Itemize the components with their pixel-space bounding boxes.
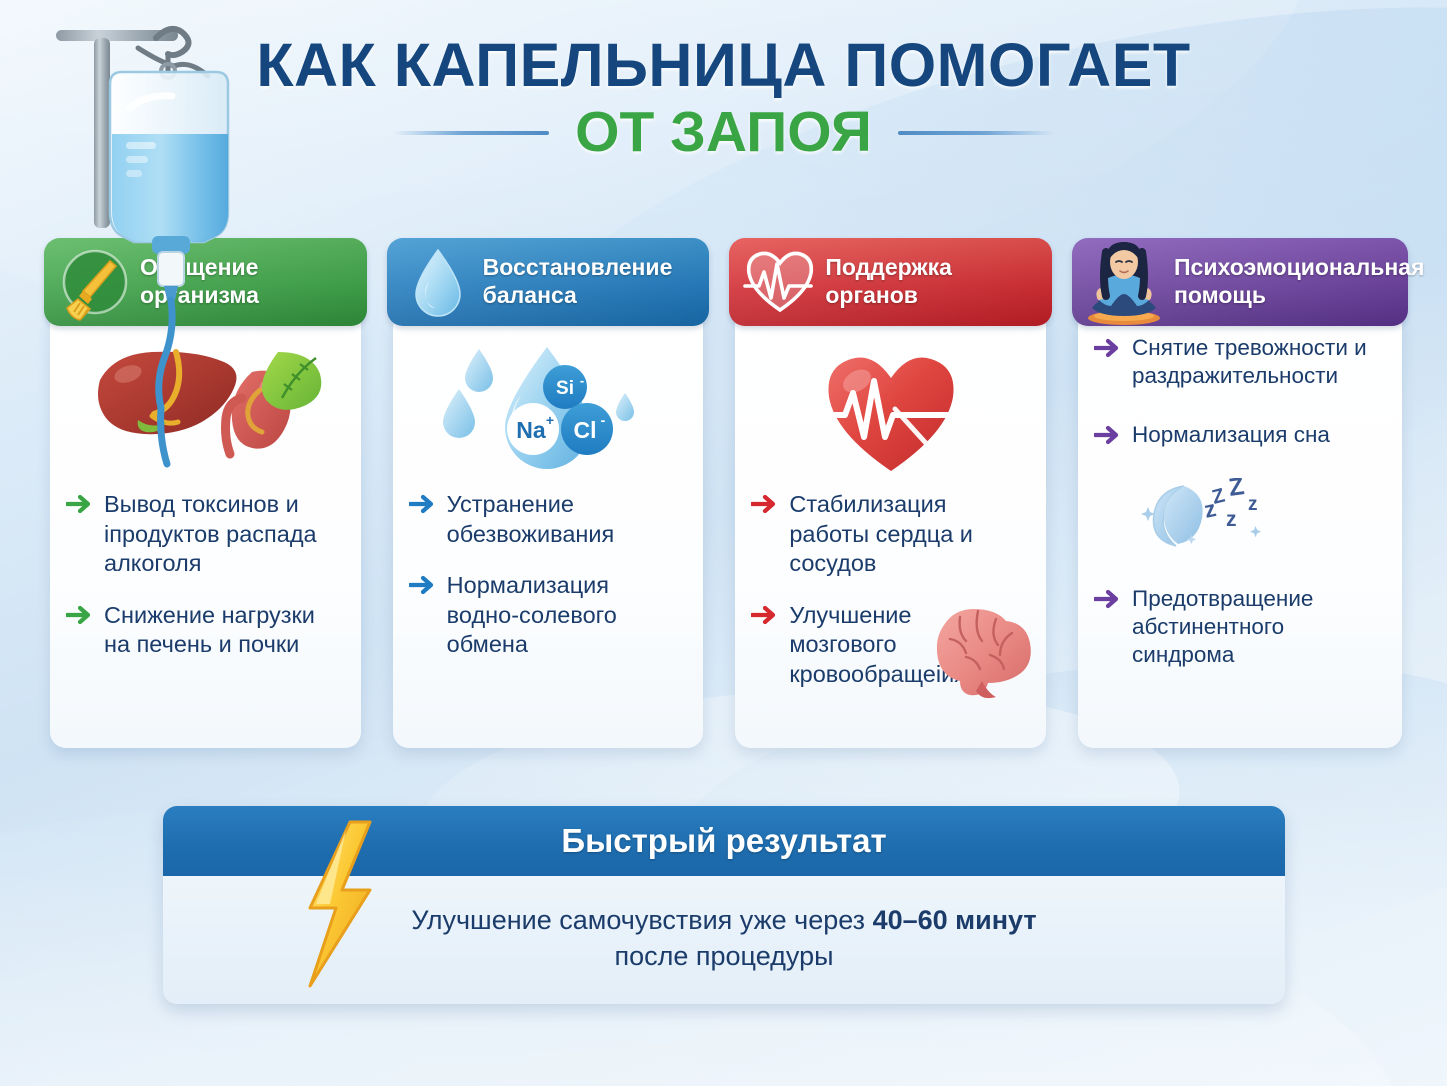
bullet-item: Снижение нагрузки на печень и почки xyxy=(66,601,345,660)
card-header-title: Восстановление баланса xyxy=(483,254,681,309)
card-header-title-line1: Психоэмоциональная xyxy=(1174,254,1424,280)
bullet-text: Улучшение мозгового кровообращеіия xyxy=(789,601,957,690)
lightning-bolt-icon xyxy=(288,816,398,1001)
bullet-text: Нормализация сна xyxy=(1132,421,1330,449)
sleep-illustration-row: Z Z z z z xyxy=(1094,476,1386,555)
card-header-title-line2: органов xyxy=(825,282,918,308)
svg-text:Z: Z xyxy=(1227,478,1246,502)
arrow-icon xyxy=(1094,589,1120,614)
meditating-woman-icon xyxy=(1076,234,1172,330)
result-banner-title: Быстрый результат xyxy=(561,822,886,860)
card-psycho: Психоэмоциональная помощь Снятие тревожн… xyxy=(1072,238,1408,748)
subtitle-rule-left xyxy=(393,131,549,135)
moon-sleep-icon: Z Z z z z xyxy=(1130,478,1280,555)
arrow-icon xyxy=(751,605,777,630)
card-bullets-cleansing: Вывод токсинов и іпродуктов распада алко… xyxy=(66,490,345,660)
heart-ecg-illustration xyxy=(751,336,1030,486)
card-organs: Поддержка органов xyxy=(729,238,1052,748)
bullet-text: Предотвращение абстинентного синдрома xyxy=(1132,585,1386,670)
card-header-organs: Поддержка органов xyxy=(729,238,1052,326)
svg-text:z: z xyxy=(1226,508,1237,531)
bullet-item: Снятие тревожности и раздражительности xyxy=(1094,334,1386,391)
bullet-text: Снятие тревожности и раздражительности xyxy=(1132,334,1386,391)
card-header-title-line1: Восстановление xyxy=(483,254,673,280)
svg-text:Si: Si xyxy=(556,378,574,399)
card-bullets-psycho: Снятие тревожности и раздражительности Н… xyxy=(1094,334,1386,670)
card-header-title-line2: баланса xyxy=(483,282,577,308)
infographic-page: КАК КАПЕЛЬНИЦА ПОМОГАЕТ ОТ ЗАПОЯ xyxy=(0,0,1447,1086)
svg-text:Cl: Cl xyxy=(574,417,597,443)
page-subtitle: ОТ ЗАПОЯ xyxy=(575,104,872,161)
card-header-balance: Восстановление баланса xyxy=(387,238,710,326)
card-balance: Восстановление баланса xyxy=(387,238,710,748)
arrow-icon xyxy=(409,494,435,519)
svg-text:-: - xyxy=(580,373,584,388)
svg-text:z: z xyxy=(1248,494,1258,515)
bullet-item: Устранение обезвоживания xyxy=(409,490,688,549)
svg-text:Na: Na xyxy=(516,417,546,443)
result-line-1-prefix: Улучшение самочувствия уже через xyxy=(411,905,872,935)
card-header-title-line1: Поддержка xyxy=(825,254,952,280)
arrow-icon xyxy=(751,494,777,519)
bullet-text: Вывод токсинов и іпродуктов распада алко… xyxy=(104,490,345,579)
arrow-icon xyxy=(409,575,435,600)
card-header-title: Психоэмоциональная помощь xyxy=(1174,254,1432,309)
bullet-text: Нормализация водно-солевого обмена xyxy=(447,571,688,660)
bullet-text: Устранение обезвоживания xyxy=(447,490,688,549)
svg-text:+: + xyxy=(546,412,554,428)
subtitle-rule-right xyxy=(898,131,1054,135)
bullet-item: Улучшение мозгового кровообращеіия xyxy=(751,601,1030,690)
arrow-icon xyxy=(1094,425,1120,450)
svg-text:-: - xyxy=(601,412,606,428)
bullet-item: Стабилизация работы сердца и сосудов xyxy=(751,490,1030,579)
arrow-icon xyxy=(66,494,92,519)
bullet-text: Снижение нагрузки на печень и почки xyxy=(104,601,345,660)
card-body-organs: Стабилизация работы сердца и сосудов Улу… xyxy=(735,310,1046,748)
arrow-icon xyxy=(66,605,92,630)
card-header-title-line2: помощь xyxy=(1174,282,1266,308)
bullet-item: Вывод токсинов и іпродуктов распада алко… xyxy=(66,490,345,579)
arrow-icon xyxy=(1094,338,1120,363)
water-drop-icon xyxy=(399,243,477,321)
result-duration: 40–60 минут xyxy=(873,905,1037,935)
iv-drip-icon xyxy=(34,8,294,493)
electrolyte-drops-illustration: Si - Na + Cl - xyxy=(409,336,688,486)
card-bullets-balance: Устранение обезвоживания Нормализация во… xyxy=(409,490,688,660)
card-header-psycho: Психоэмоциональная помощь xyxy=(1072,238,1408,326)
heart-pulse-icon xyxy=(741,243,819,321)
card-body-balance: Si - Na + Cl - Устран xyxy=(393,310,704,748)
card-header-title: Поддержка органов xyxy=(825,254,960,309)
bullet-text: Стабилизация работы сердца и сосудов xyxy=(789,490,1030,579)
bullet-item: Нормализация водно-солевого обмена xyxy=(409,571,688,660)
card-bullets-organs: Стабилизация работы сердца и сосудов Улу… xyxy=(751,490,1030,690)
bullet-item: Нормализация сна xyxy=(1094,421,1386,450)
bullet-item: Предотвращение абстинентного синдрома xyxy=(1094,585,1386,670)
card-body-psycho: Снятие тревожности и раздражительности Н… xyxy=(1078,310,1402,748)
